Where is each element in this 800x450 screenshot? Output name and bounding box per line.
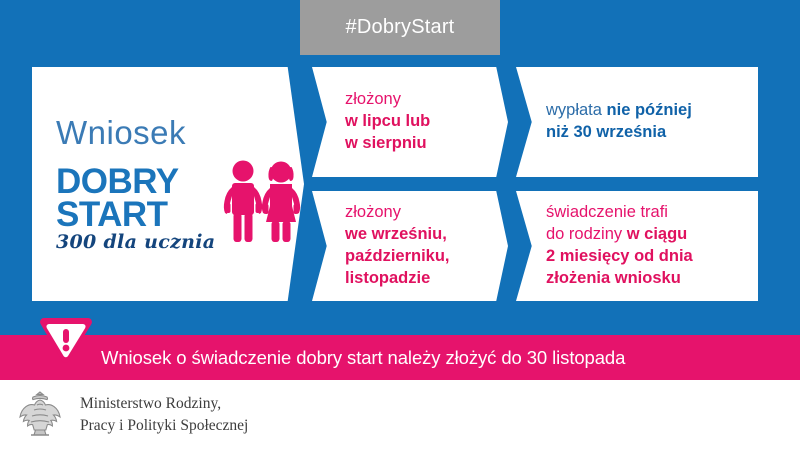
brand-logo-line-2: START: [56, 199, 215, 232]
brand-wordmark: DOBRY START 300 dla ucznia: [56, 166, 215, 252]
step-bold-line-1: w lipcu lub: [345, 111, 430, 133]
warning-exclamation-triangle-icon: [38, 315, 94, 367]
polish-eagle-emblem-icon: [14, 386, 66, 445]
step-bold-line-1: we wrześniu,: [345, 224, 450, 246]
step-mixed-line-2: do rodziny w ciągu: [546, 224, 693, 246]
step-panel-submitted-july-august: złożony w lipcu lub w sierpniu: [312, 67, 508, 177]
step-panel-payout-september: wypłata nie później niż 30 września: [516, 67, 758, 177]
step-regular-text: wypłata: [546, 101, 607, 119]
step-regular-line-1: świadczenie trafi: [546, 202, 693, 224]
ministry-name-line-2: Pracy i Polityki Społecznej: [80, 415, 248, 437]
step-text: świadczenie trafi do rodziny w ciągu 2 m…: [516, 202, 703, 289]
step-bold-inline: nie później: [607, 101, 692, 119]
hashtag-label: #DobryStart: [346, 16, 455, 39]
hashtag-banner: #DobryStart: [300, 0, 500, 55]
step-panel-payout-two-months: świadczenie trafi do rodziny w ciągu 2 m…: [516, 191, 758, 301]
footer: Ministerstwo Rodziny, Pracy i Polityki S…: [0, 380, 800, 450]
brand-panel: Wniosek DOBRY START 300 dla ucznia: [32, 67, 304, 301]
flow-diagram: Wniosek DOBRY START 300 dla ucznia: [0, 55, 800, 313]
brand-logo-line-1: DOBRY: [56, 166, 215, 199]
step-text: wypłata nie później niż 30 września: [516, 100, 702, 144]
alert-message: Wniosek o świadczenie dobry start należy…: [101, 347, 625, 369]
step-panel-submitted-autumn: złożony we wrześniu, październiku, listo…: [312, 191, 508, 301]
alert-banner: Wniosek o świadczenie dobry start należy…: [0, 335, 800, 380]
step-regular-text: złożony: [345, 89, 430, 111]
step-text: złożony we wrześniu, październiku, listo…: [312, 202, 460, 289]
step-mixed-line-1: wypłata nie później: [546, 100, 692, 122]
step-regular-text: do rodziny: [546, 225, 627, 243]
step-bold-line-3: 2 miesięcy od dnia: [546, 246, 693, 268]
brand-tagline: 300 dla ucznia: [56, 234, 215, 252]
brand-kicker: Wniosek: [56, 116, 186, 149]
step-bold-line-4: złożenia wniosku: [546, 268, 693, 290]
step-bold-line-2: w sierpniu: [345, 133, 430, 155]
brand-logo: DOBRY START 300 dla ucznia: [56, 159, 301, 252]
step-bold-line-2: niż 30 września: [546, 122, 692, 144]
step-text: złożony w lipcu lub w sierpniu: [312, 89, 440, 154]
step-regular-text: złożony: [345, 202, 450, 224]
step-bold-line-3: listopadzie: [345, 268, 450, 290]
step-bold-inline: w ciągu: [627, 225, 688, 243]
dobry-start-infographic: #DobryStart Wniosek DOBRY START 300 dla …: [0, 0, 800, 450]
step-bold-line-2: październiku,: [345, 246, 450, 268]
ministry-name: Ministerstwo Rodziny, Pracy i Polityki S…: [80, 393, 248, 438]
two-children-with-backpacks-icon: [223, 159, 301, 250]
ministry-name-line-1: Ministerstwo Rodziny,: [80, 393, 248, 415]
